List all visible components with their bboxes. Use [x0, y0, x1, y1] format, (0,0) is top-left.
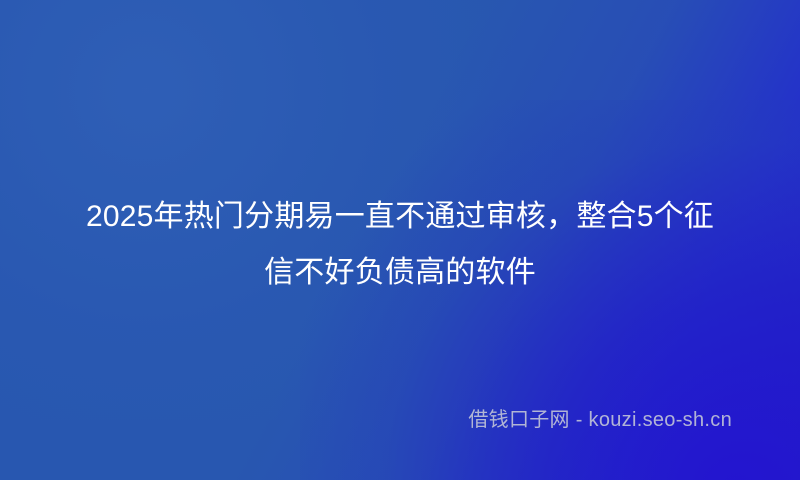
site-watermark: 借钱口子网 - kouzi.seo-sh.cn	[468, 408, 732, 432]
banner-title: 2025年热门分期易一直不通过审核，整合5个征 信不好负债高的软件	[0, 189, 800, 301]
banner-image: 2025年热门分期易一直不通过审核，整合5个征 信不好负债高的软件 借钱口子网 …	[0, 0, 800, 480]
